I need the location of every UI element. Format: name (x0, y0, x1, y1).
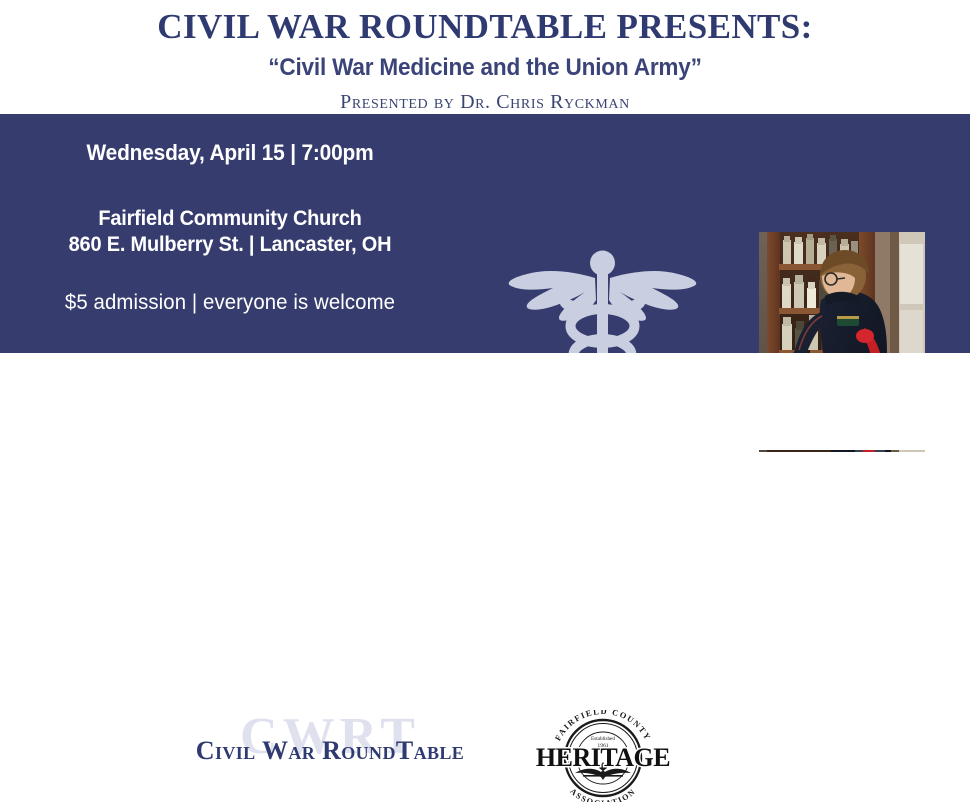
heritage-association-seal: FAIRFIELD COUNTY ASSOCIATION Established… (533, 710, 673, 802)
event-venue-name: Fairfield Community Church (12, 207, 449, 231)
heritage-established-label: Established (591, 736, 615, 742)
flyer-footer: CWRT Civil War RoundTable FAIRFIELD COUN… (0, 353, 970, 450)
event-info-block: Wednesday, April 15 | 7:00pm Fairfield C… (0, 114, 500, 353)
cwrt-wordmark: Civil War RoundTable (180, 738, 480, 764)
presenter-line: Presented by Dr. Chris Ryckman (0, 80, 970, 112)
event-details-panel: Wednesday, April 15 | 7:00pm Fairfield C… (0, 114, 970, 353)
event-datetime: Wednesday, April 15 | 7:00pm (12, 140, 449, 166)
cwrt-logo: CWRT Civil War RoundTable (180, 713, 480, 783)
event-venue-address: 860 E. Mulberry St. | Lancaster, OH (12, 233, 449, 257)
page-title: CIVIL WAR ROUNDTABLE PRESENTS: (0, 0, 970, 44)
lecture-title: “Civil War Medicine and the Union Army” (29, 44, 941, 80)
flyer-header: CIVIL WAR ROUNDTABLE PRESENTS: “Civil Wa… (0, 0, 970, 114)
heritage-arc-bottom: ASSOCIATION (568, 787, 637, 802)
svg-text:ASSOCIATION: ASSOCIATION (568, 787, 637, 802)
event-flyer: CIVIL WAR ROUNDTABLE PRESENTS: “Civil Wa… (0, 0, 970, 450)
heritage-wordmark: HERITAGE (536, 743, 670, 772)
event-admission: $5 admission | everyone is welcome (7, 291, 453, 315)
